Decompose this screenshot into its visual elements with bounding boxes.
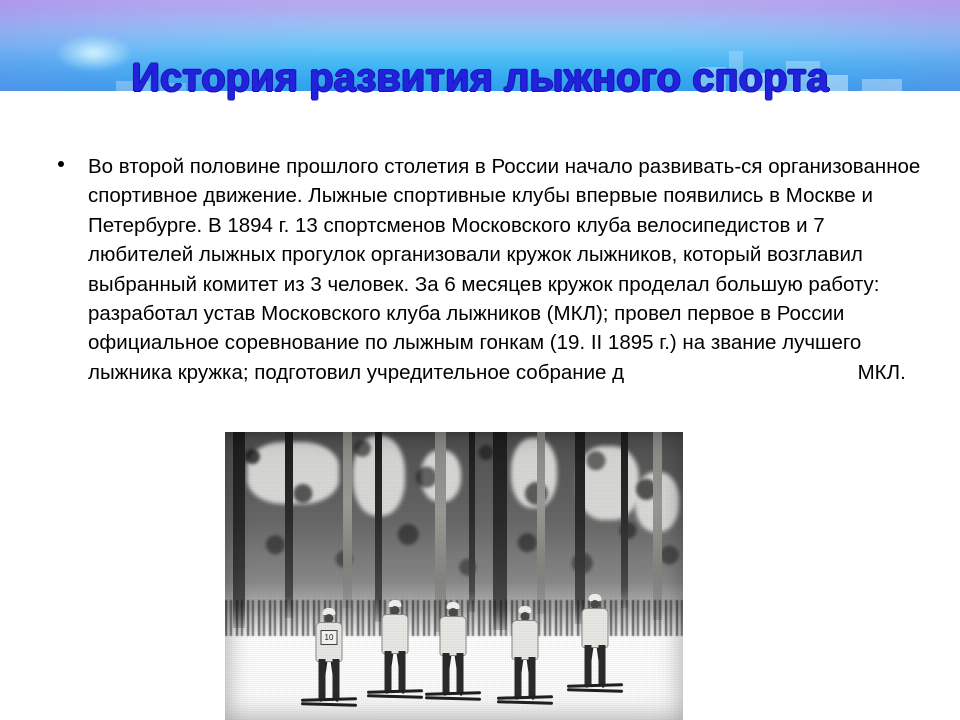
photo-film-grain xyxy=(225,432,683,720)
slide-title: История развития лыжного спорта xyxy=(70,52,890,104)
bullet-list-item: Во второй половине прошлого столетия в Р… xyxy=(52,152,932,387)
bullet-item-text: Во второй половине прошлого столетия в Р… xyxy=(88,152,932,387)
bullet-point-icon xyxy=(58,161,64,167)
slide-body: Во второй половине прошлого столетия в Р… xyxy=(52,152,932,387)
archival-photo: 10 xyxy=(225,432,683,720)
